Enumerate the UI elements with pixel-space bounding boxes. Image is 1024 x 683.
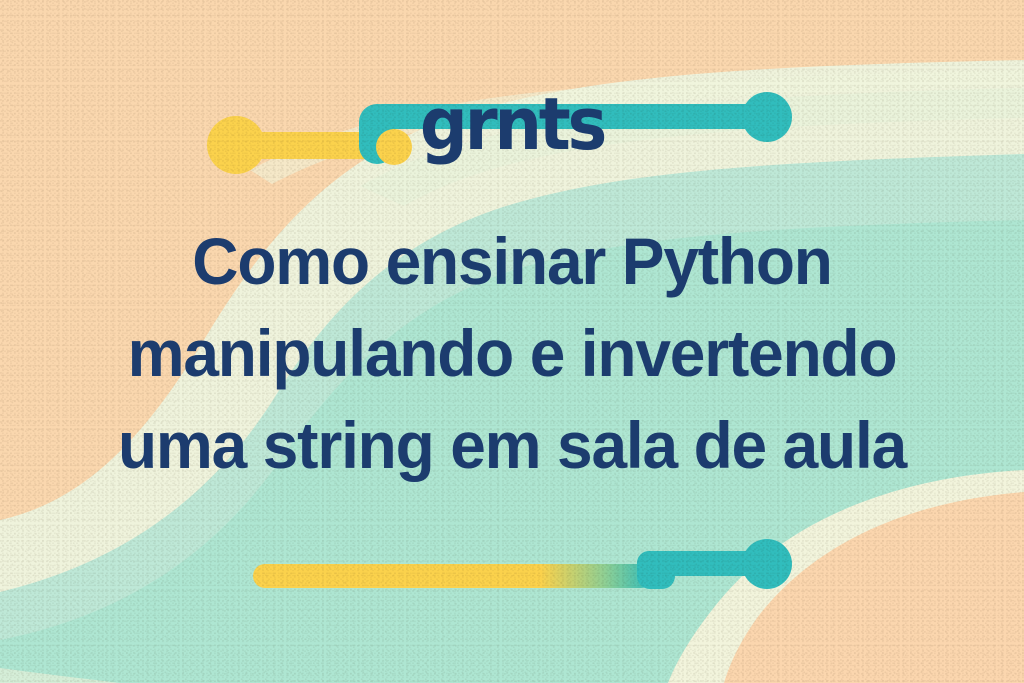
headline: Como ensinar Python manipulando e invert… [0,215,1024,491]
headline-line-3: uma string em sala de aula [15,399,1008,491]
yellow-bar-bottom [253,564,653,588]
brand-wordmark-text: grnts [420,86,604,162]
headline-line-2: manipulando e invertendo [15,307,1008,399]
headline-line-1: Como ensinar Python [15,215,1008,307]
teal-dot-bottom-right [742,539,792,589]
brand-wordmark: grnts [0,86,1024,162]
social-card: grnts Como ensinar Python manipulando e … [0,0,1024,683]
teal-elbow-bottom [637,551,675,589]
